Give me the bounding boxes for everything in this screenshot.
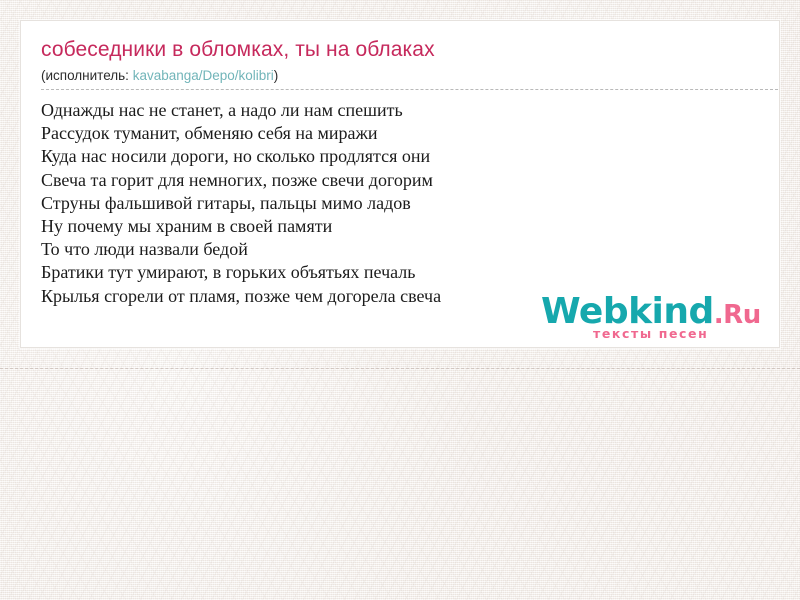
song-card: собеседники в обломках, ты на облаках (и… xyxy=(20,20,780,348)
lyrics-line: То что люди назвали бедой xyxy=(41,238,761,261)
lyrics-line: Струны фальшивой гитары, пальцы мимо лад… xyxy=(41,192,761,215)
artist-link[interactable]: kavabanga/Depo/kolibri xyxy=(133,68,274,83)
page-divider-rule xyxy=(0,368,800,369)
artist-label-close: ) xyxy=(274,68,279,83)
site-logo[interactable]: Webkind.Ru тексты песен xyxy=(541,293,771,345)
lyrics-list: Однажды нас не станет, а надо ли нам спе… xyxy=(41,99,761,308)
page-title: собеседники в обломках, ты на облаках xyxy=(41,37,761,63)
artist-line: (исполнитель: kavabanga/Depo/kolibri) xyxy=(41,67,780,90)
lyrics-line: Ну почему мы храним в своей памяти xyxy=(41,215,761,238)
lyrics-line: Братики тут умирают, в горьких объятьях … xyxy=(41,261,761,284)
lyrics-line: Куда нас носили дороги, но сколько продл… xyxy=(41,145,761,168)
lyrics-line: Рассудок туманит, обменяю себя на миражи xyxy=(41,122,761,145)
site-logo-tld: .Ru xyxy=(714,300,761,330)
site-logo-tagline: тексты песен xyxy=(593,326,708,341)
lyrics-line: Свеча та горит для немногих, позже свечи… xyxy=(41,169,761,192)
artist-label-open: (исполнитель: xyxy=(41,68,133,83)
lyrics-line: Однажды нас не станет, а надо ли нам спе… xyxy=(41,99,761,122)
